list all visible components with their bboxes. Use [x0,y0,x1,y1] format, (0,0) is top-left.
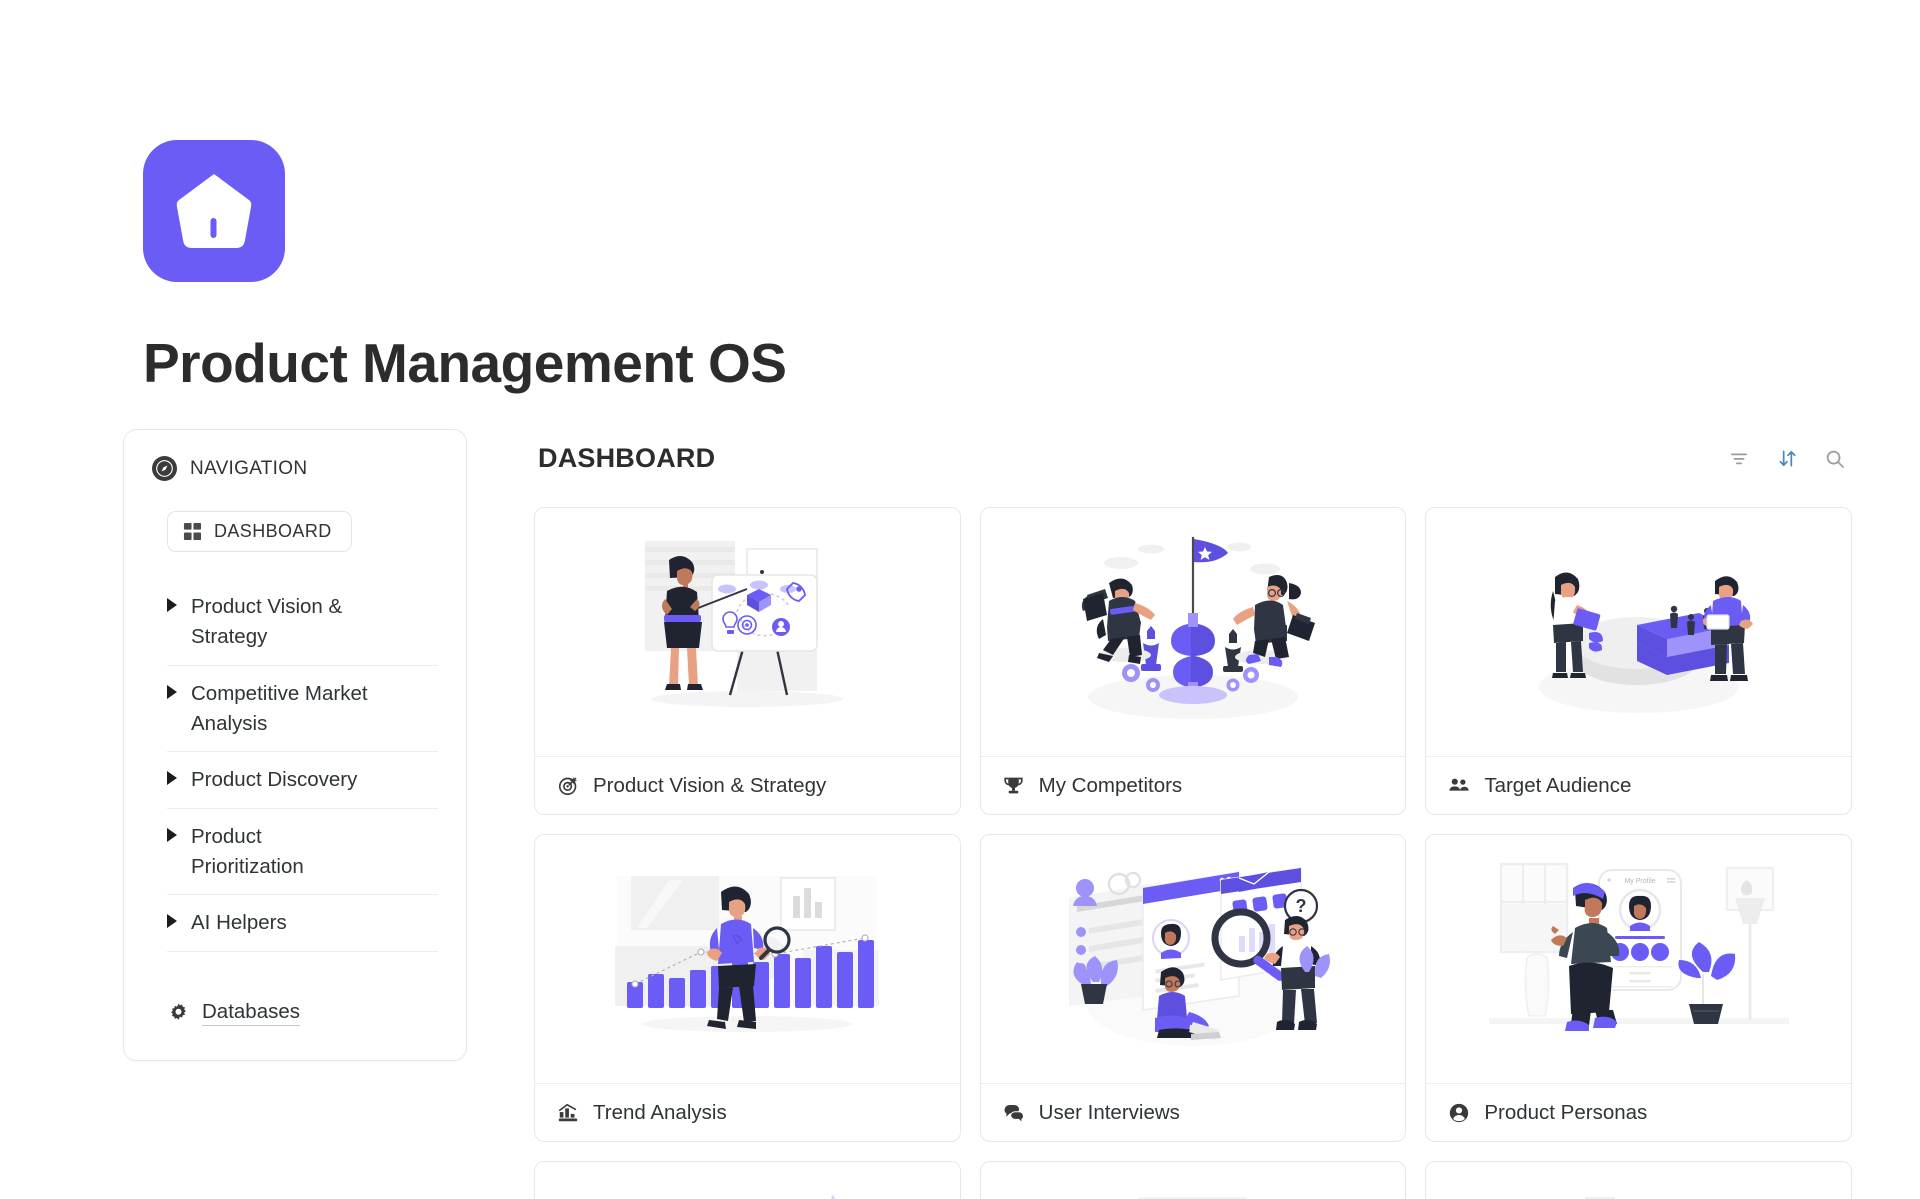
target-icon [557,775,579,797]
sidebar-item-databases[interactable]: Databases [167,1000,438,1026]
card-label: User Interviews [1039,1101,1180,1125]
card-footer: Product Vision & Strategy [535,756,960,814]
page-hero: Product Management OS [0,0,1920,393]
card-illustration-pie-chart-with-people [1426,508,1851,756]
dashboard-main: DASHBOARD [534,429,1852,1199]
card-label: Product Personas [1484,1101,1647,1125]
caret-right-icon[interactable] [167,598,177,612]
dashboard-card-user-interviews[interactable]: ? [980,834,1407,1142]
dashboard-card-product-vision-strategy[interactable]: Product Vision & Strategy [534,507,961,815]
card-footer: Target Audience [1426,756,1851,814]
card-illustration-people-reviewing-profiles: ? [981,835,1406,1083]
page-title: Product Management OS [143,334,1920,393]
dashboard-card-target-audience[interactable]: Target Audience [1425,507,1852,815]
grid-icon [183,522,202,541]
card-label: Product Vision & Strategy [593,774,826,798]
person-circle-icon [1448,1102,1470,1124]
card-footer: My Competitors [981,756,1406,814]
card-illustration-kanban-board-with-clock [1426,1162,1851,1199]
sidebar-item-label: Product Vision & Strategy [191,592,371,651]
body-columns: NAVIGATION DASHBOARD Product Vision & St [0,393,1920,1199]
sidebar-dashboard-button[interactable]: DASHBOARD [167,511,352,552]
caret-right-icon[interactable] [167,914,177,928]
compass-icon [152,456,177,481]
card-illustration-woman-with-phone-profile: My Profile [1426,835,1851,1083]
navigation-header-label: NAVIGATION [190,458,307,480]
card-footer: Trend Analysis [535,1083,960,1141]
svg-text:?: ? [1295,896,1306,916]
card-footer: User Interviews [981,1083,1406,1141]
card-illustration-woman-in-maze-with-question: ? [535,1162,960,1199]
card-footer: Product Personas [1426,1083,1851,1141]
navigation-header: NAVIGATION [152,456,438,481]
dashboard-card-product-personas[interactable]: My Profile [1425,834,1852,1142]
dashboard-card-partial-checklist[interactable] [980,1161,1407,1199]
card-illustration-man-with-magnifier-and-bars [535,835,960,1083]
people-group-icon [1448,775,1470,797]
sidebar-item-label: Product Prioritization [191,822,371,881]
sidebar-item-label: AI Helpers [191,908,287,938]
sidebar-item-ai-helpers[interactable]: AI Helpers [167,895,438,952]
navigation-sidebar: NAVIGATION DASHBOARD Product Vision & St [123,429,467,1061]
sidebar-item-product-vision-strategy[interactable]: Product Vision & Strategy [167,588,438,665]
gear-icon [167,1002,190,1025]
sidebar-item-label: Product Discovery [191,765,357,795]
sidebar-item-competitive-market-analysis[interactable]: Competitive Market Analysis [167,666,438,752]
sidebar-item-product-discovery[interactable]: Product Discovery [167,752,438,809]
caret-right-icon[interactable] [167,828,177,842]
search-icon[interactable] [1822,446,1848,472]
bar-chart-trend-icon [557,1102,579,1124]
sort-icon[interactable] [1774,446,1800,472]
app-page: Product Management OS NAVIGATION [0,0,1920,1199]
dashboard-card-trend-analysis[interactable]: Trend Analysis [534,834,961,1142]
trophy-icon [1003,775,1025,797]
filter-icon[interactable] [1726,446,1752,472]
sidebar-dashboard-label: DASHBOARD [214,521,332,542]
caret-right-icon[interactable] [167,685,177,699]
card-label: Trend Analysis [593,1101,727,1125]
card-label: My Competitors [1039,774,1183,798]
dashboard-card-partial-maze[interactable]: ? [534,1161,961,1199]
dashboard-card-my-competitors[interactable]: My Competitors [980,507,1407,815]
card-label: Target Audience [1484,774,1631,798]
sidebar-item-product-prioritization[interactable]: Product Prioritization [167,809,438,895]
dashboard-card-grid: Product Vision & Strategy [534,507,1852,1199]
sidebar-item-label: Competitive Market Analysis [191,679,371,738]
dashboard-header: DASHBOARD [534,429,1852,474]
chat-bubbles-icon [1003,1102,1025,1124]
dashboard-title: DASHBOARD [538,443,715,474]
card-illustration-woman-presenting-whiteboard [535,508,960,756]
svg-text:My Profile: My Profile [1624,878,1655,885]
card-illustration-people-with-clipboard-checklist [981,1162,1406,1199]
app-logo [143,140,285,282]
caret-right-icon[interactable] [167,771,177,785]
sidebar-nav-list: Product Vision & Strategy Competitive Ma… [167,588,438,952]
house-pentagon-icon [175,170,253,252]
dashboard-card-partial-kanban[interactable] [1425,1161,1852,1199]
card-illustration-two-people-racing-to-flag [981,508,1406,756]
sidebar-databases-label: Databases [202,1000,300,1026]
dashboard-toolbar [1726,446,1848,472]
